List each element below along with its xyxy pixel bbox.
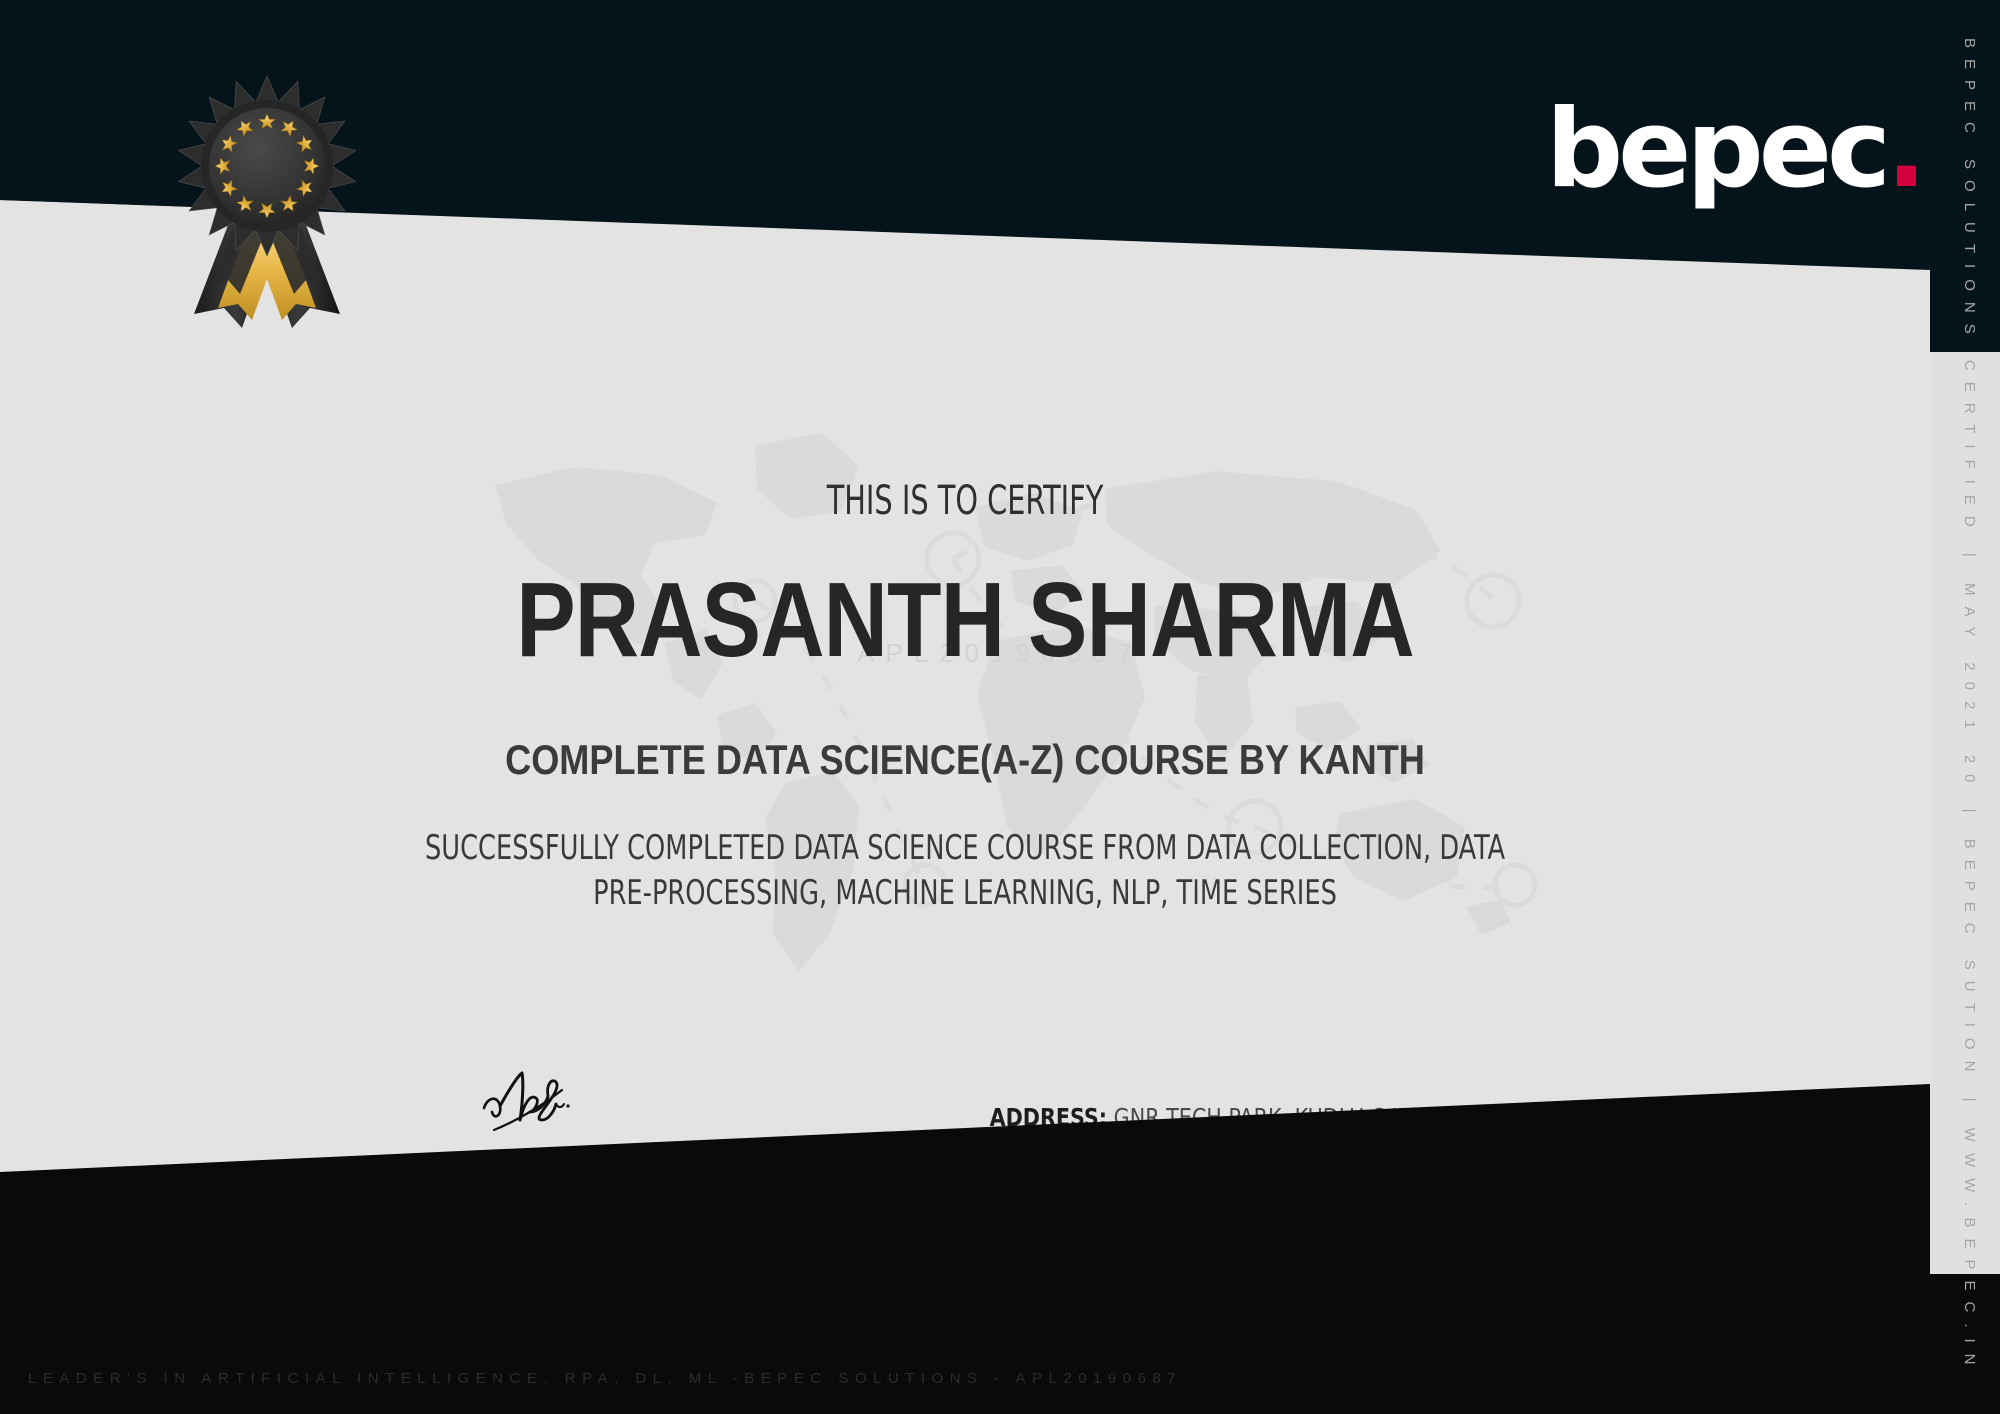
side-vertical-text: BEPEC SOLUTIONS CERTIFIED | MAY 2021 20 … <box>1961 0 1978 1414</box>
description-line-1: SUCCESSFULLY COMPLETED DATA SCIENCE COUR… <box>419 826 1511 871</box>
certify-line: THIS IS TO CERTIFY <box>193 478 1737 524</box>
course-description: SUCCESSFULLY COMPLETED DATA SCIENCE COUR… <box>419 826 1511 916</box>
certificate-canvas: APL20190687 <box>0 0 2000 1414</box>
signature-icon <box>480 1068 600 1143</box>
course-title: COMPLETE DATA SCIENCE(A-Z) COURSE BY KAN… <box>135 736 1795 784</box>
description-line-2: PRE-PROCESSING, MACHINE LEARNING, NLP, T… <box>419 871 1511 916</box>
recipient-name: PRASANTH SHARMA <box>154 560 1775 681</box>
footer-text: LEADER'S IN ARTIFICIAL INTELLIGENCE, RPA… <box>28 1370 1182 1387</box>
side-vertical-text-label: BEPEC SOLUTIONS CERTIFIED | MAY 2021 20 … <box>1961 38 1978 1376</box>
